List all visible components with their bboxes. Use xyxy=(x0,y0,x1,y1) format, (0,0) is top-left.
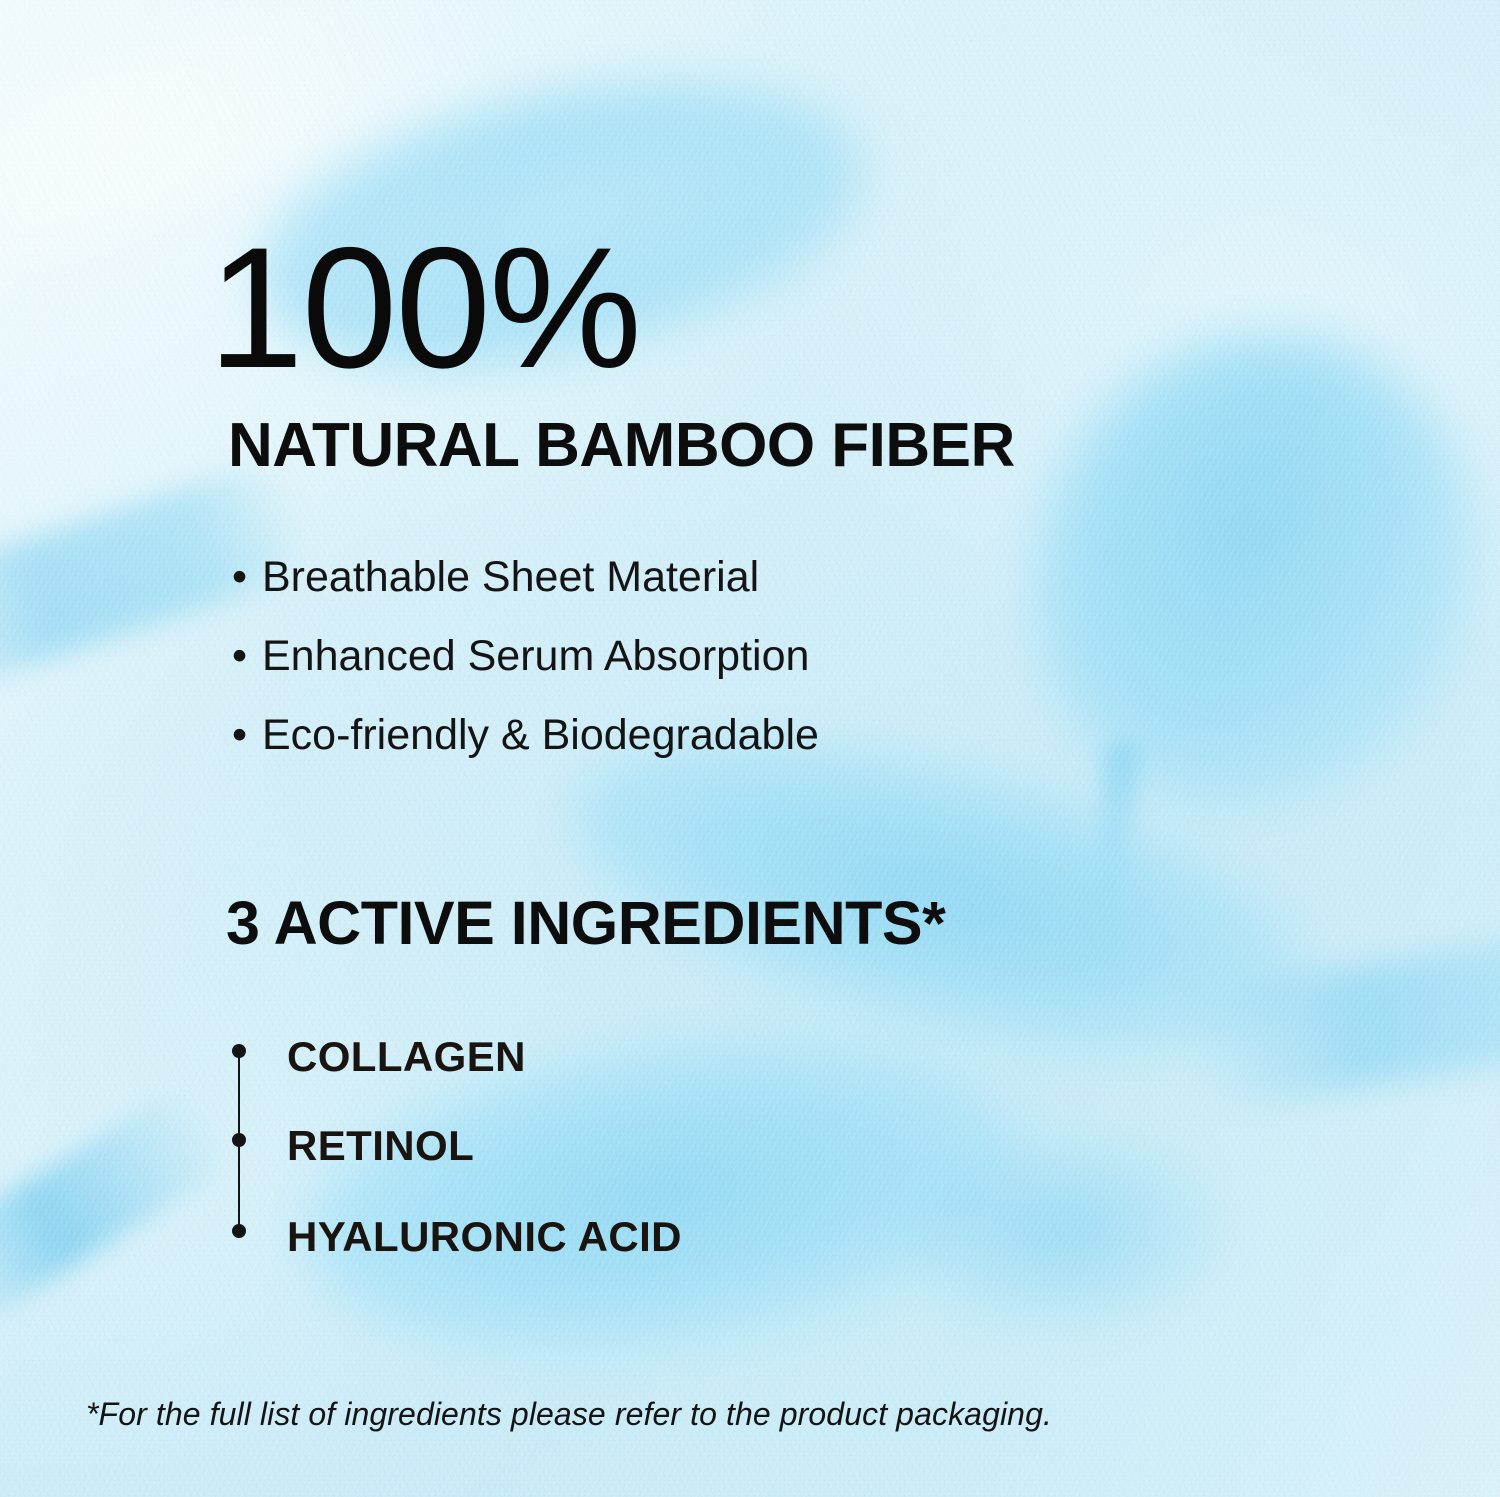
connector-node-icon xyxy=(232,1044,246,1058)
ingredient-label: RETINOL xyxy=(287,1125,474,1167)
ingredients-heading: 3 ACTIVE INGREDIENTS* xyxy=(226,893,945,954)
connector-node-icon xyxy=(232,1133,246,1147)
material-subheading: NATURAL BAMBOO FIBER xyxy=(228,415,1015,477)
connector-node-icon xyxy=(232,1224,246,1238)
percent-headline: 100% xyxy=(208,222,640,394)
feature-label: Eco-friendly & Biodegradable xyxy=(262,711,819,759)
ingredients-footnote: *For the full list of ingredients please… xyxy=(86,1398,1052,1430)
product-infographic-panel: 100% NATURAL BAMBOO FIBER •Breathable Sh… xyxy=(0,0,1500,1497)
content-layer: 100% NATURAL BAMBOO FIBER •Breathable Sh… xyxy=(0,0,1500,1497)
bullet-icon: • xyxy=(232,538,262,617)
list-item: •Eco-friendly & Biodegradable xyxy=(232,696,819,775)
bullet-icon: • xyxy=(232,696,262,775)
bullet-icon: • xyxy=(232,617,262,696)
ingredient-label: COLLAGEN xyxy=(287,1036,526,1078)
feature-label: Enhanced Serum Absorption xyxy=(262,632,809,680)
ingredient-label: HYALURONIC ACID xyxy=(287,1216,682,1258)
feature-list: •Breathable Sheet Material •Enhanced Ser… xyxy=(232,538,819,775)
feature-label: Breathable Sheet Material xyxy=(262,553,759,601)
list-item: •Enhanced Serum Absorption xyxy=(232,617,819,696)
list-item: •Breathable Sheet Material xyxy=(232,538,819,617)
ingredients-list: COLLAGEN RETINOL HYALURONIC ACID xyxy=(232,1030,932,1260)
